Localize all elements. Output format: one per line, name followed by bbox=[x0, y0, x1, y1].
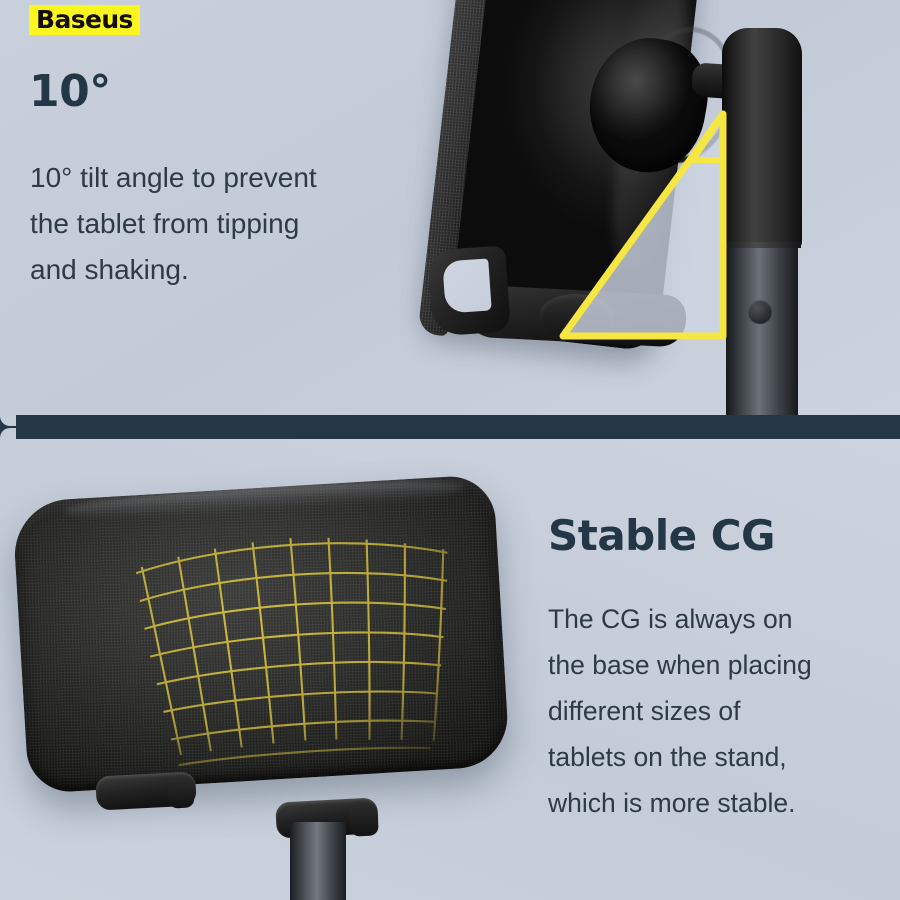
feature-panel-tilt-angle: Baseus 10° 10° tilt angle to prevent the… bbox=[0, 0, 900, 416]
page-title-stable-cg: Stable CG bbox=[548, 511, 775, 560]
pole-release-button bbox=[748, 300, 772, 324]
section-divider bbox=[0, 415, 900, 439]
center-pole bbox=[290, 822, 346, 900]
product-photo-base-pad bbox=[8, 470, 528, 900]
description-stable-cg: The CG is always on the base when placin… bbox=[548, 596, 812, 826]
description-line: the tablet from tipping bbox=[30, 201, 317, 247]
pole-lower-section bbox=[726, 248, 798, 416]
description-line: 10° tilt angle to prevent bbox=[30, 155, 317, 201]
support-hook-left-lip bbox=[167, 777, 195, 808]
pole-upper-section bbox=[722, 28, 802, 246]
support-hook-left-notch bbox=[442, 258, 492, 313]
baseus-logo: Baseus bbox=[29, 5, 140, 35]
description-line: the base when placing bbox=[548, 642, 812, 688]
base-pad-rim bbox=[12, 474, 510, 794]
baseus-logo-text: Baseus bbox=[36, 6, 133, 33]
description-line: tablets on the stand, bbox=[548, 734, 812, 780]
support-hook-right-lip bbox=[349, 803, 379, 836]
description-line: which is more stable. bbox=[548, 780, 812, 826]
description-line: and shaking. bbox=[30, 247, 317, 293]
description-line: different sizes of bbox=[548, 688, 812, 734]
description-tilt-angle: 10° tilt angle to prevent the tablet fro… bbox=[30, 155, 317, 293]
description-line: The CG is always on bbox=[548, 596, 812, 642]
product-feature-graphic: Baseus 10° 10° tilt angle to prevent the… bbox=[0, 0, 900, 900]
telescoping-pole bbox=[722, 28, 814, 416]
page-title-tilt-angle: 10° bbox=[29, 66, 111, 117]
